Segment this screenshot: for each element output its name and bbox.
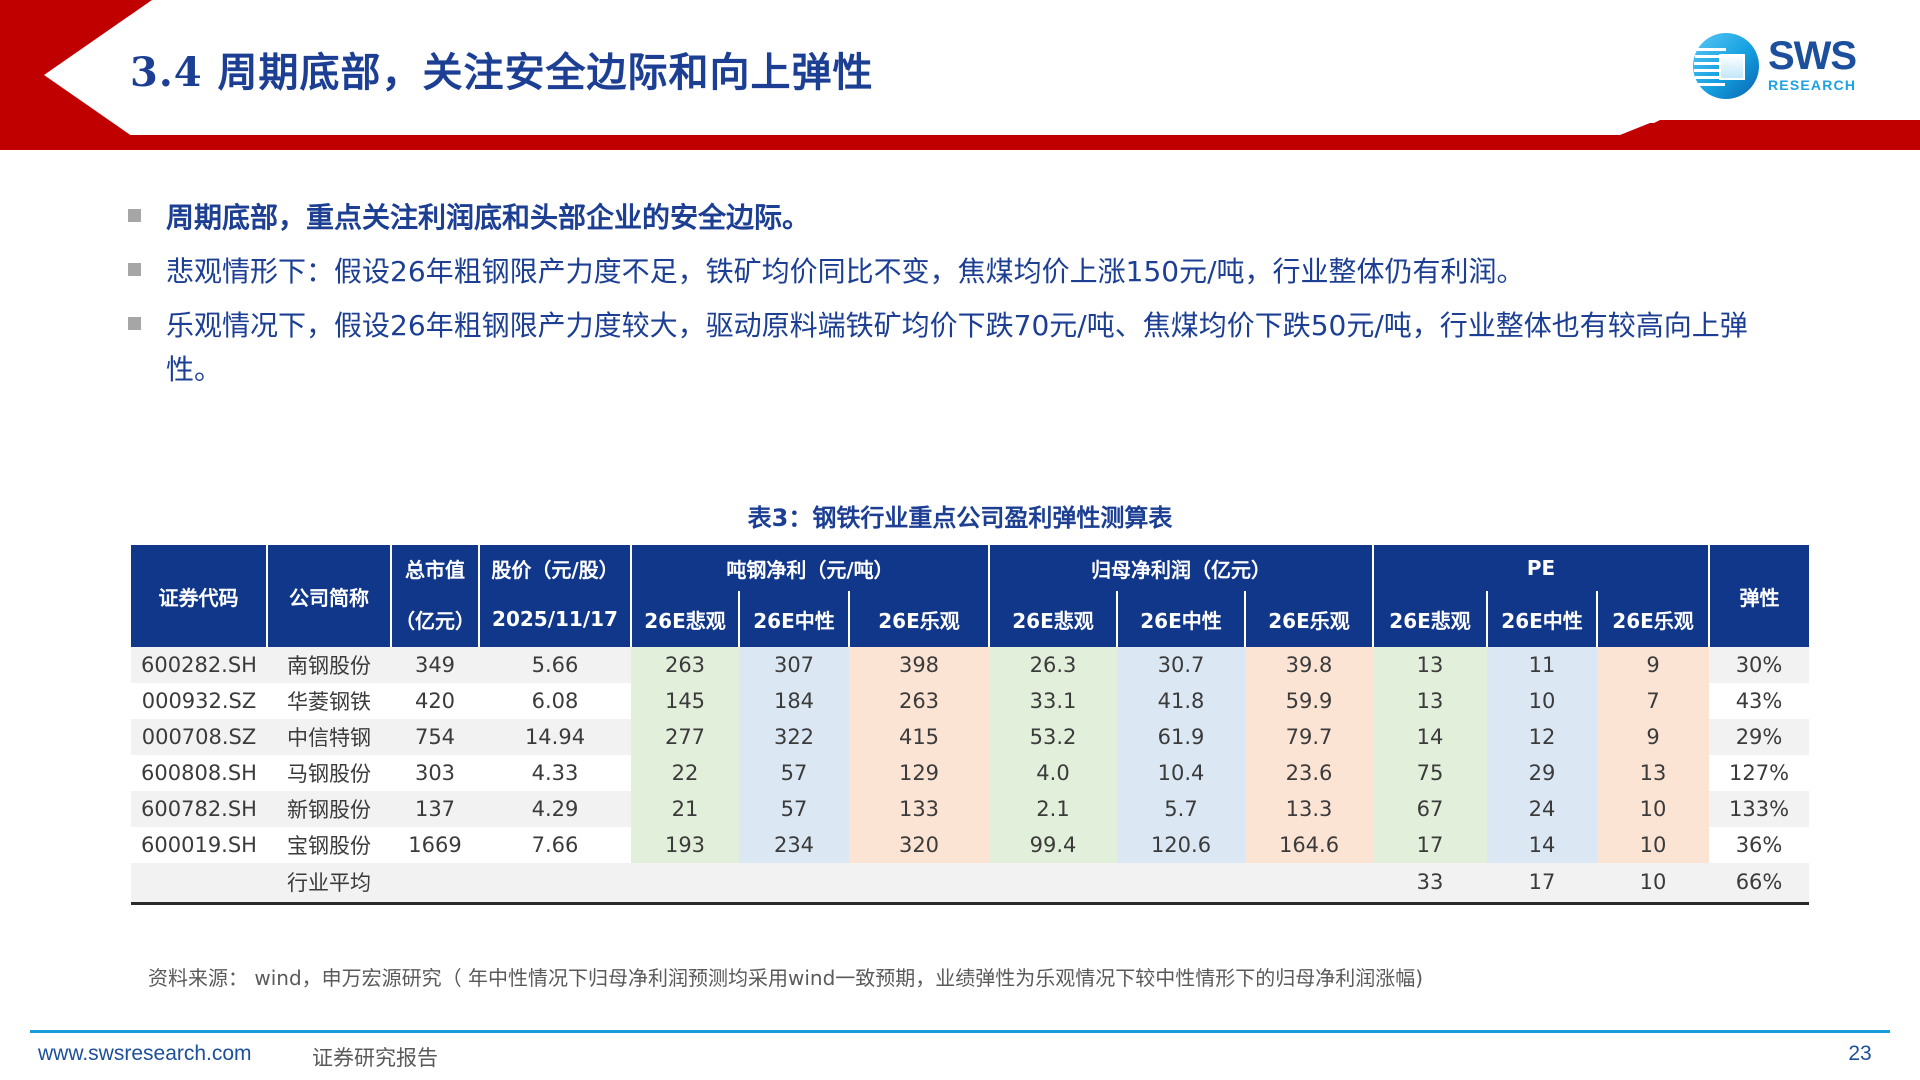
cell-pe-optimistic: 10: [1597, 791, 1709, 827]
cell-tp-optimistic: 415: [849, 719, 989, 755]
th-pe-optimistic: 26E乐观: [1597, 591, 1709, 647]
table-body: 600282.SH 南钢股份 349 5.66 263 307 398 26.3…: [131, 647, 1809, 903]
cell-np-neutral: 41.8: [1117, 683, 1245, 719]
cell-np-neutral: 61.9: [1117, 719, 1245, 755]
cell-pe-pessimistic: 75: [1373, 755, 1487, 791]
source-note: 资料来源： wind，申万宏源研究（ 年中性情况下归母净利润预测均采用wind一…: [148, 962, 1423, 991]
th-pe-neutral: 26E中性: [1487, 591, 1597, 647]
cell-tp-pessimistic: 145: [631, 683, 739, 719]
cell-tp-pessimistic: 263: [631, 647, 739, 683]
table-caption: 表3：钢铁行业重点公司盈利弹性测算表: [0, 498, 1920, 533]
cell-avg-elasticity: 66%: [1709, 863, 1809, 903]
cell-pe-neutral: 29: [1487, 755, 1597, 791]
cell-tp-neutral: 234: [739, 827, 849, 863]
th-price-top: 股价（元/股）: [479, 545, 631, 591]
cell-mktcap: 349: [391, 647, 479, 683]
table-row[interactable]: 000708.SZ 中信特钢 754 14.94 277 322 415 53.…: [131, 719, 1809, 755]
cell-tp-optimistic: 263: [849, 683, 989, 719]
cell-tp-optimistic: 133: [849, 791, 989, 827]
cell-name: 中信特钢: [267, 719, 391, 755]
cell-avg-blank: [1245, 863, 1373, 903]
cell-avg-blank: [989, 863, 1117, 903]
bullet-item: 周期底部，重点关注利润底和头部企业的安全边际。: [128, 196, 1828, 240]
cell-tp-neutral: 322: [739, 719, 849, 755]
cell-np-pessimistic: 53.2: [989, 719, 1117, 755]
cell-code: 600282.SH: [131, 647, 267, 683]
cell-mktcap: 303: [391, 755, 479, 791]
cell-elasticity: 43%: [1709, 683, 1809, 719]
cell-np-neutral: 30.7: [1117, 647, 1245, 683]
cell-name: 新钢股份: [267, 791, 391, 827]
page-number: 23: [1830, 1042, 1890, 1066]
table-row-average: 行业平均 33 17 10 66%: [131, 863, 1809, 903]
cell-np-optimistic: 23.6: [1245, 755, 1373, 791]
th-mktcap-top: 总市值: [391, 545, 479, 591]
bullet-square-icon: [128, 263, 141, 276]
cell-np-neutral: 120.6: [1117, 827, 1245, 863]
cell-price: 4.33: [479, 755, 631, 791]
th-elasticity: 弹性: [1709, 545, 1809, 647]
cell-name: 马钢股份: [267, 755, 391, 791]
cell-mktcap: 137: [391, 791, 479, 827]
cell-price: 6.08: [479, 683, 631, 719]
cell-np-optimistic: 13.3: [1245, 791, 1373, 827]
cell-code: 600808.SH: [131, 755, 267, 791]
slide: 3.4 周期底部，关注安全边际和向上弹性: [0, 0, 1920, 1080]
cell-mktcap: 1669: [391, 827, 479, 863]
th-tp-neutral: 26E中性: [739, 591, 849, 647]
cell-pe-optimistic: 9: [1597, 647, 1709, 683]
bullet-item: 悲观情形下：假设26年粗钢限产力度不足，铁矿均价同比不变，焦煤均价上涨150元/…: [128, 250, 1828, 294]
bullet-text: 周期底部，重点关注利润底和头部企业的安全边际。: [166, 196, 810, 240]
cell-tp-pessimistic: 21: [631, 791, 739, 827]
table-row[interactable]: 600808.SH 马钢股份 303 4.33 22 57 129 4.0 10…: [131, 755, 1809, 791]
cell-avg-blank: [739, 863, 849, 903]
th-pe-pessimistic: 26E悲观: [1373, 591, 1487, 647]
cell-pe-pessimistic: 13: [1373, 647, 1487, 683]
cell-np-pessimistic: 33.1: [989, 683, 1117, 719]
cell-tp-neutral: 184: [739, 683, 849, 719]
page-title: 3.4 周期底部，关注安全边际和向上弹性: [130, 40, 874, 98]
cell-pe-optimistic: 10: [1597, 827, 1709, 863]
cell-price: 14.94: [479, 719, 631, 755]
cell-avg-blank: [849, 863, 989, 903]
cell-np-pessimistic: 4.0: [989, 755, 1117, 791]
cell-pe-pessimistic: 67: [1373, 791, 1487, 827]
bullet-text: 悲观情形下：假设26年粗钢限产力度不足，铁矿均价同比不变，焦煤均价上涨150元/…: [166, 250, 1525, 294]
sws-logo: SWS RESEARCH: [1690, 28, 1890, 106]
cell-pe-neutral: 11: [1487, 647, 1597, 683]
cell-tp-optimistic: 320: [849, 827, 989, 863]
cell-tp-optimistic: 398: [849, 647, 989, 683]
cell-tp-pessimistic: 277: [631, 719, 739, 755]
bullet-text: 乐观情况下，假设26年粗钢限产力度较大，驱动原料端铁矿均价下跌70元/吨、焦煤均…: [166, 304, 1766, 392]
cell-pe-neutral: 12: [1487, 719, 1597, 755]
cell-name: 南钢股份: [267, 647, 391, 683]
bullet-list: 周期底部，重点关注利润底和头部企业的安全边际。 悲观情形下：假设26年粗钢限产力…: [128, 196, 1828, 402]
cell-avg-label: 行业平均: [267, 863, 391, 903]
cell-pe-neutral: 14: [1487, 827, 1597, 863]
cell-pe-pessimistic: 17: [1373, 827, 1487, 863]
th-price-date: 2025/11/17: [479, 591, 631, 647]
table-row[interactable]: 600782.SH 新钢股份 137 4.29 21 57 133 2.1 5.…: [131, 791, 1809, 827]
th-tp-optimistic: 26E乐观: [849, 591, 989, 647]
footer-divider: [30, 1030, 1890, 1033]
cell-tp-neutral: 57: [739, 791, 849, 827]
cell-elasticity: 127%: [1709, 755, 1809, 791]
cell-avg-blank: [631, 863, 739, 903]
cell-pe-optimistic: 9: [1597, 719, 1709, 755]
cell-mktcap: 754: [391, 719, 479, 755]
cell-np-optimistic: 39.8: [1245, 647, 1373, 683]
bullet-item: 乐观情况下，假设26年粗钢限产力度较大，驱动原料端铁矿均价下跌70元/吨、焦煤均…: [128, 304, 1828, 392]
cell-tp-neutral: 57: [739, 755, 849, 791]
cell-avg-pe-optimistic: 10: [1597, 863, 1709, 903]
th-group-pe: PE: [1373, 545, 1709, 591]
cell-pe-pessimistic: 13: [1373, 683, 1487, 719]
sws-logo-mark-icon: [1690, 30, 1762, 102]
cell-np-pessimistic: 2.1: [989, 791, 1117, 827]
cell-avg-pe-neutral: 17: [1487, 863, 1597, 903]
cell-price: 4.29: [479, 791, 631, 827]
cell-avg-blank-code: [131, 863, 267, 903]
cell-name: 宝钢股份: [267, 827, 391, 863]
cell-pe-neutral: 10: [1487, 683, 1597, 719]
cell-pe-optimistic: 7: [1597, 683, 1709, 719]
cell-elasticity: 36%: [1709, 827, 1809, 863]
th-group-net-profit: 归母净利润（亿元）: [989, 545, 1373, 591]
cell-tp-optimistic: 129: [849, 755, 989, 791]
cell-tp-neutral: 307: [739, 647, 849, 683]
slide-header: 3.4 周期底部，关注安全边际和向上弹性: [0, 0, 1920, 150]
bullet-square-icon: [128, 317, 141, 330]
cell-code: 000708.SZ: [131, 719, 267, 755]
footer-label: 证券研究报告: [312, 1042, 438, 1072]
cell-np-neutral: 5.7: [1117, 791, 1245, 827]
th-code: 证券代码: [131, 545, 267, 647]
cell-np-optimistic: 59.9: [1245, 683, 1373, 719]
table-row[interactable]: 000932.SZ 华菱钢铁 420 6.08 145 184 263 33.1…: [131, 683, 1809, 719]
cell-code: 600782.SH: [131, 791, 267, 827]
cell-np-optimistic: 164.6: [1245, 827, 1373, 863]
cell-elasticity: 29%: [1709, 719, 1809, 755]
logo-brand: SWS: [1768, 36, 1856, 76]
footer-url[interactable]: www.swsresearch.com: [38, 1042, 252, 1066]
cell-elasticity: 30%: [1709, 647, 1809, 683]
cell-price: 7.66: [479, 827, 631, 863]
cell-pe-optimistic: 13: [1597, 755, 1709, 791]
cell-code: 600019.SH: [131, 827, 267, 863]
cell-mktcap: 420: [391, 683, 479, 719]
table-row[interactable]: 600282.SH 南钢股份 349 5.66 263 307 398 26.3…: [131, 647, 1809, 683]
cell-np-optimistic: 79.7: [1245, 719, 1373, 755]
cell-tp-pessimistic: 193: [631, 827, 739, 863]
cell-elasticity: 133%: [1709, 791, 1809, 827]
th-name: 公司简称: [267, 545, 391, 647]
cell-pe-neutral: 24: [1487, 791, 1597, 827]
sws-logo-text: SWS RESEARCH: [1768, 36, 1856, 94]
earnings-elasticity-table: 证券代码 公司简称 总市值 股价（元/股） 吨钢净利（元/吨） 归母净利润（亿元…: [131, 545, 1789, 905]
cell-avg-pe-pessimistic: 33: [1373, 863, 1487, 903]
logo-subtitle: RESEARCH: [1768, 76, 1856, 94]
cell-np-neutral: 10.4: [1117, 755, 1245, 791]
th-mktcap-unit: （亿元）: [391, 591, 479, 647]
cell-avg-blank: [391, 863, 479, 903]
th-tp-pessimistic: 26E悲观: [631, 591, 739, 647]
cell-price: 5.66: [479, 647, 631, 683]
th-group-ton-profit: 吨钢净利（元/吨）: [631, 545, 989, 591]
bullet-square-icon: [128, 209, 141, 222]
th-np-pessimistic: 26E悲观: [989, 591, 1117, 647]
cell-code: 000932.SZ: [131, 683, 267, 719]
th-np-neutral: 26E中性: [1117, 591, 1245, 647]
th-np-optimistic: 26E乐观: [1245, 591, 1373, 647]
cell-avg-blank: [1117, 863, 1245, 903]
cell-np-pessimistic: 26.3: [989, 647, 1117, 683]
cell-name: 华菱钢铁: [267, 683, 391, 719]
cell-avg-blank: [479, 863, 631, 903]
table-row[interactable]: 600019.SH 宝钢股份 1669 7.66 193 234 320 99.…: [131, 827, 1809, 863]
cell-tp-pessimistic: 22: [631, 755, 739, 791]
cell-pe-pessimistic: 14: [1373, 719, 1487, 755]
cell-np-pessimistic: 99.4: [989, 827, 1117, 863]
